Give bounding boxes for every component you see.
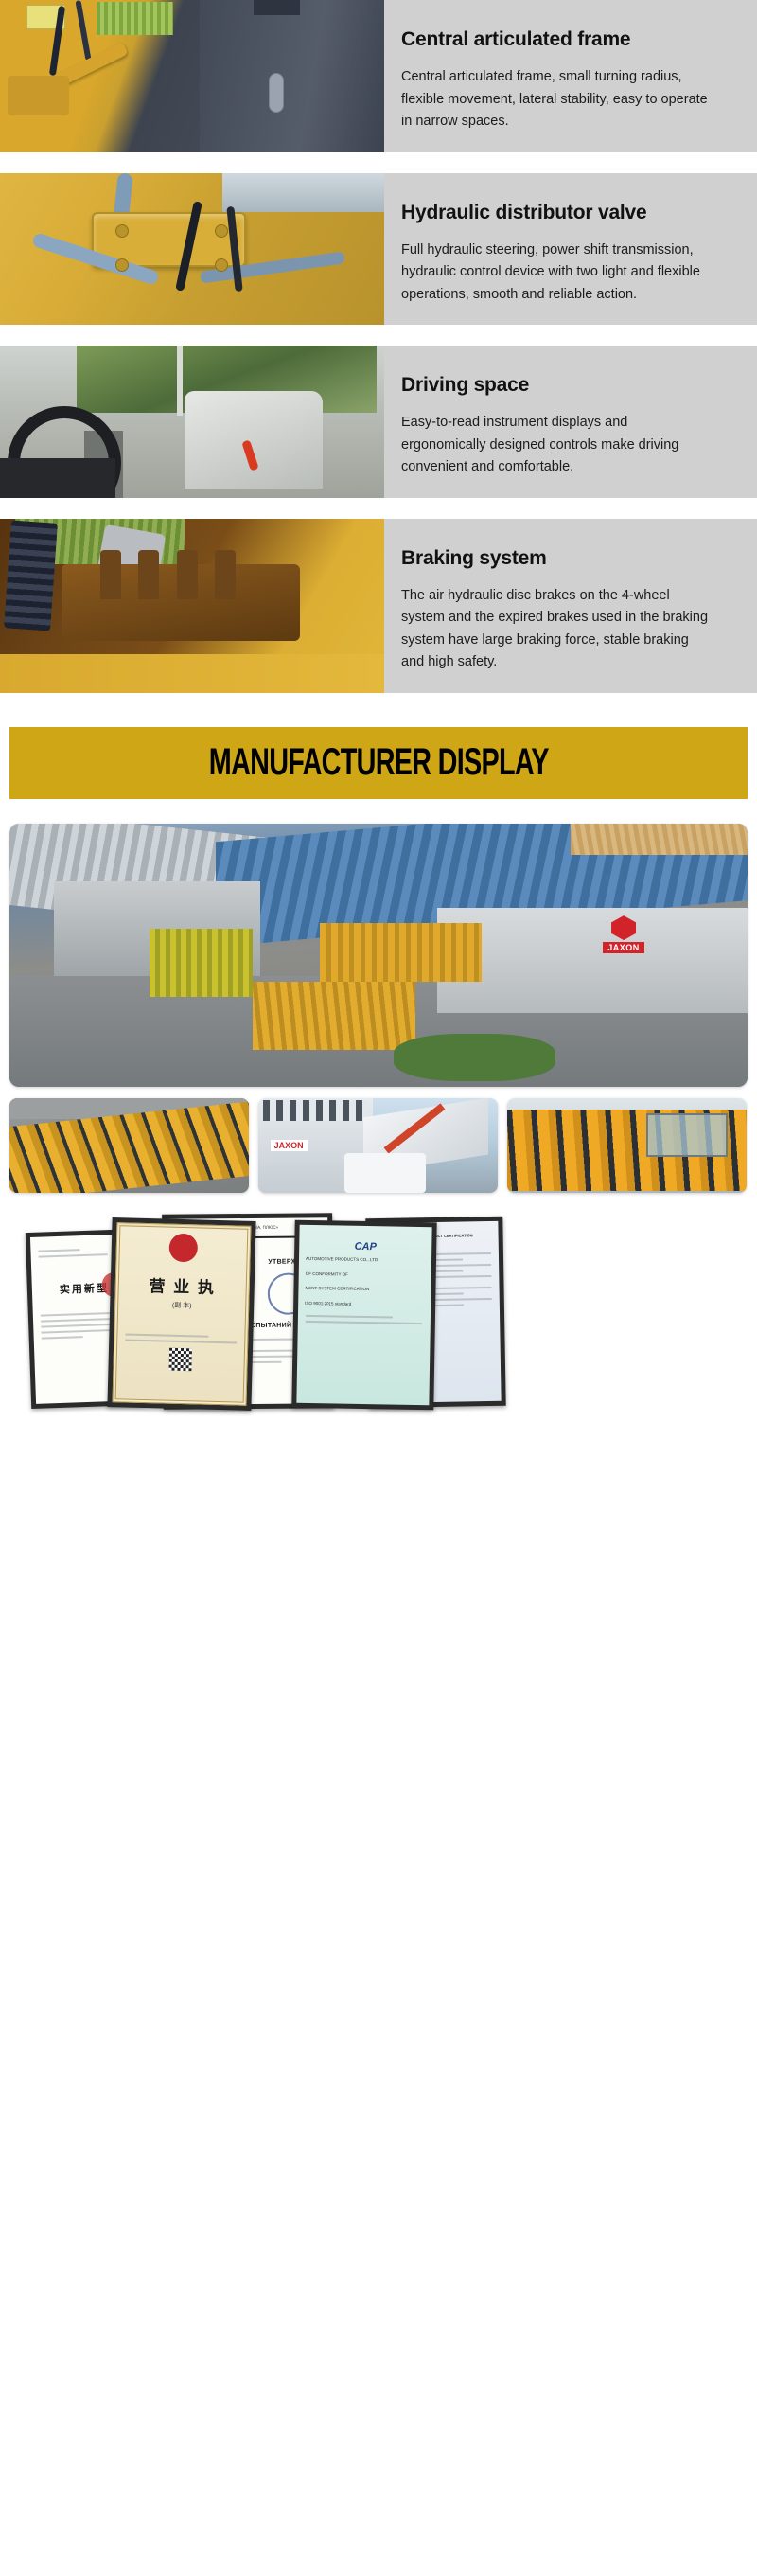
loader-fleet — [320, 923, 483, 981]
office-building — [437, 908, 748, 1013]
bolt-icon — [115, 258, 129, 272]
feature-card-central-articulated-frame: Central articulated frame Central articu… — [0, 0, 757, 152]
cylinder-icon — [177, 550, 198, 599]
sky-backdrop — [222, 173, 384, 213]
junction-box-icon — [254, 0, 300, 15]
certificate-line-4: ISO 9001:2015 standard — [298, 1296, 431, 1313]
page-bottom-whitespace — [0, 1410, 757, 1978]
feature-card-braking-system: Braking system The air hydraulic disc br… — [0, 519, 757, 693]
manufacturer-banner-title: MANUFACTURER DISPLAY — [209, 741, 549, 784]
jaxon-logo: JAXON — [603, 915, 644, 953]
certificate-collage: 实用新型 营 业 执 (副 本) — [19, 1206, 757, 1410]
dashboard-panel — [0, 458, 115, 498]
national-emblem-icon — [168, 1233, 198, 1262]
foliage-backdrop — [97, 2, 173, 35]
feature-text-block: Hydraulic distributor valve Full hydraul… — [384, 173, 757, 326]
feature-title: Central articulated frame — [401, 28, 736, 51]
feature-card-hydraulic-distributor-valve: Hydraulic distributor valve Full hydraul… — [0, 173, 757, 326]
hydraulic-hose-icon — [76, 0, 92, 61]
gallery-thumb-loader-fleet[interactable] — [9, 1098, 249, 1193]
feature-description: Easy-to-read instrument displays and erg… — [401, 412, 713, 478]
gallery-thumb-dump-truck[interactable]: JAXON — [258, 1098, 498, 1193]
window-frame — [177, 346, 183, 416]
bolt-icon — [115, 224, 129, 238]
wall-louvres — [263, 1100, 368, 1121]
section-gap — [0, 152, 757, 173]
field-backdrop — [571, 824, 748, 855]
loader-fleet — [150, 929, 253, 997]
feature-text-block: Braking system The air hydraulic disc br… — [384, 519, 757, 693]
product-detail-page: Central articulated frame Central articu… — [0, 0, 757, 1978]
feature-title: Driving space — [401, 374, 736, 397]
frame-block — [8, 76, 69, 115]
garden-area — [394, 1034, 556, 1081]
feature-text-block: Central articulated frame Central articu… — [384, 0, 757, 152]
jaxon-diamond-icon — [611, 915, 636, 940]
hose-bundle — [4, 521, 58, 631]
certificate-business-license[interactable]: 营 业 执 (副 本) — [107, 1217, 255, 1411]
feature-text-block: Driving space Easy-to-read instrument di… — [384, 346, 757, 498]
factory-aerial-photo[interactable]: JAXON — [9, 824, 748, 1087]
feature-photo-hydraulic-valve — [0, 173, 384, 326]
manufacturer-banner-wrapper: MANUFACTURER DISPLAY — [0, 693, 757, 812]
feature-description: Full hydraulic steering, power shift tra… — [401, 240, 713, 306]
feature-photo-driving-space — [0, 346, 384, 498]
section-gap — [0, 498, 757, 519]
gallery-thumb-backhoe-row[interactable] — [507, 1098, 747, 1193]
certificate-subheading: (副 本) — [118, 1299, 245, 1312]
jaxon-wordmark: JAXON — [271, 1140, 308, 1151]
feature-description: The air hydraulic disc brakes on the 4-w… — [401, 585, 713, 674]
operator-seat — [185, 391, 323, 489]
feature-title: Braking system — [401, 547, 736, 570]
cylinder-icon — [138, 550, 159, 599]
certificate-heading: 营 业 执 — [118, 1271, 246, 1298]
bolt-icon — [215, 258, 228, 272]
qr-code-icon — [168, 1348, 192, 1372]
cylinder-icon — [100, 550, 121, 599]
cab-glass — [646, 1113, 728, 1157]
body-panel — [200, 0, 384, 152]
loader-fleet — [253, 982, 415, 1050]
feature-photo-articulated-frame — [0, 0, 384, 152]
manufacturer-banner: MANUFACTURER DISPLAY — [9, 727, 748, 799]
cylinder-icon — [215, 550, 236, 599]
section-gap — [0, 325, 757, 346]
yellow-chassis-bar — [0, 654, 384, 692]
feature-description: Central articulated frame, small turning… — [401, 66, 713, 133]
feature-photo-braking-system — [0, 519, 384, 693]
feature-title: Hydraulic distributor valve — [401, 202, 736, 224]
door-handle-icon — [269, 73, 284, 113]
truck-cab — [344, 1153, 426, 1193]
gallery-thumb-row: JAXON — [9, 1098, 748, 1193]
feature-card-driving-space: Driving space Easy-to-read instrument di… — [0, 346, 757, 498]
jaxon-wordmark: JAXON — [603, 942, 644, 953]
certificate-quality-management-system[interactable]: CAP AUTOMOTIVE PRODUCTS CO., LTD OF CONF… — [291, 1220, 436, 1411]
manufacturer-gallery: JAXON JAXON — [0, 812, 757, 1410]
